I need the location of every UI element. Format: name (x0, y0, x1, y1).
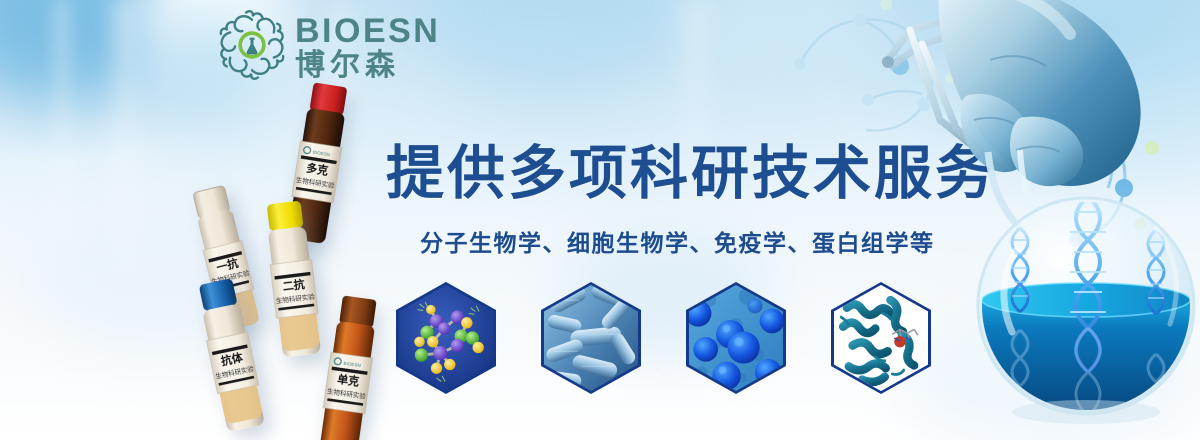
right-artwork (870, 0, 1200, 440)
hex-inner (689, 285, 783, 391)
service-hex-row (396, 282, 931, 394)
logo-text-english: BIOESN (295, 14, 440, 48)
molecule-network-icon[interactable] (396, 282, 496, 394)
background-streak (55, 0, 69, 300)
logo-text-chinese: 博尔森 (295, 51, 440, 81)
hex-inner (399, 285, 493, 391)
logo[interactable]: BIOESN 博尔森 (215, 8, 440, 82)
svg-text:二抗: 二抗 (282, 277, 306, 294)
bokeh-blob (420, 0, 680, 100)
page-subtitle: 分子生物学、细胞生物学、免疫学、蛋白组学等 (420, 224, 935, 258)
bacteria-rods-icon[interactable] (541, 282, 641, 394)
hex-inner (544, 285, 638, 391)
background-streak (112, 0, 138, 300)
cells-cluster-icon[interactable] (686, 282, 786, 394)
banner-root: BIOESN 博尔森 提供多项科研技术服务 分子生物学、细胞生物学、免疫学、蛋白… (0, 0, 1200, 440)
bokeh-blob (0, 0, 160, 100)
bioesn-swirl-flask-logo (215, 8, 289, 82)
